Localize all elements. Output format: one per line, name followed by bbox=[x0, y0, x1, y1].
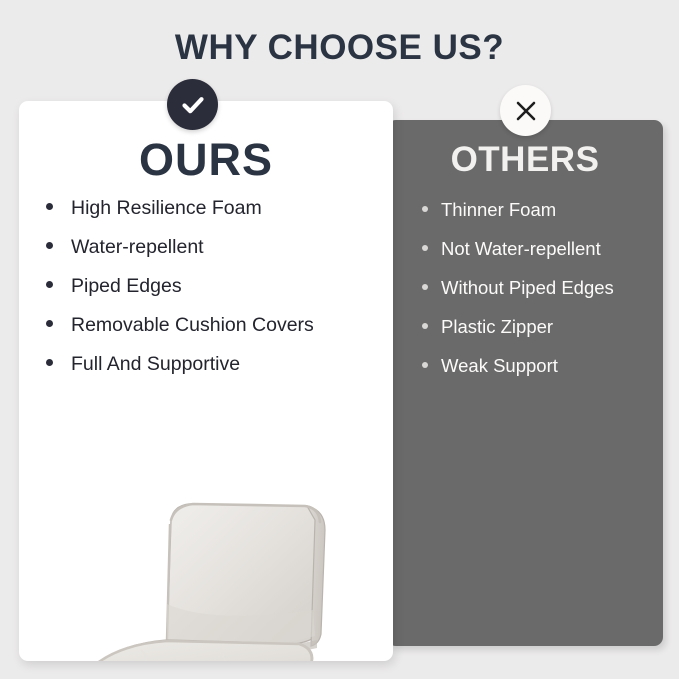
ours-product-image bbox=[71, 484, 361, 661]
bullet-icon bbox=[422, 284, 428, 290]
ours-heading: OURS bbox=[19, 134, 393, 186]
feature-label: Removable Cushion Covers bbox=[71, 314, 314, 337]
list-item: Water-repellent bbox=[46, 236, 376, 275]
x-icon bbox=[500, 85, 551, 136]
list-item: Piped Edges bbox=[46, 275, 376, 314]
check-glyph bbox=[178, 90, 208, 120]
list-item: Plastic Zipper bbox=[422, 316, 672, 355]
feature-label: Water-repellent bbox=[71, 236, 204, 259]
others-feature-list: Thinner Foam Not Water-repellent Without… bbox=[422, 199, 672, 394]
feature-label: Plastic Zipper bbox=[441, 316, 553, 338]
bullet-icon bbox=[46, 242, 53, 249]
list-item: High Resilience Foam bbox=[46, 197, 376, 236]
feature-label: Full And Supportive bbox=[71, 353, 240, 376]
feature-label: Without Piped Edges bbox=[441, 277, 614, 299]
bullet-icon bbox=[422, 245, 428, 251]
bullet-icon bbox=[422, 323, 428, 329]
feature-label: Not Water-repellent bbox=[441, 238, 601, 260]
ours-feature-list: High Resilience Foam Water-repellent Pip… bbox=[46, 197, 376, 392]
bullet-icon bbox=[46, 320, 53, 327]
list-item: Weak Support bbox=[422, 355, 672, 394]
feature-label: Weak Support bbox=[441, 355, 558, 377]
bullet-icon bbox=[422, 206, 428, 212]
bullet-icon bbox=[46, 359, 53, 366]
bullet-icon bbox=[46, 203, 53, 210]
feature-label: Piped Edges bbox=[71, 275, 182, 298]
check-icon bbox=[167, 79, 218, 130]
x-glyph bbox=[513, 98, 539, 124]
list-item: Removable Cushion Covers bbox=[46, 314, 376, 353]
list-item: Without Piped Edges bbox=[422, 277, 672, 316]
feature-label: High Resilience Foam bbox=[71, 197, 262, 220]
bullet-icon bbox=[46, 281, 53, 288]
page-title: WHY CHOOSE US? bbox=[0, 28, 679, 68]
list-item: Not Water-repellent bbox=[422, 238, 672, 277]
list-item: Thinner Foam bbox=[422, 199, 672, 238]
list-item: Full And Supportive bbox=[46, 353, 376, 392]
bullet-icon bbox=[422, 362, 428, 368]
others-heading: OTHERS bbox=[387, 140, 663, 180]
feature-label: Thinner Foam bbox=[441, 199, 556, 221]
